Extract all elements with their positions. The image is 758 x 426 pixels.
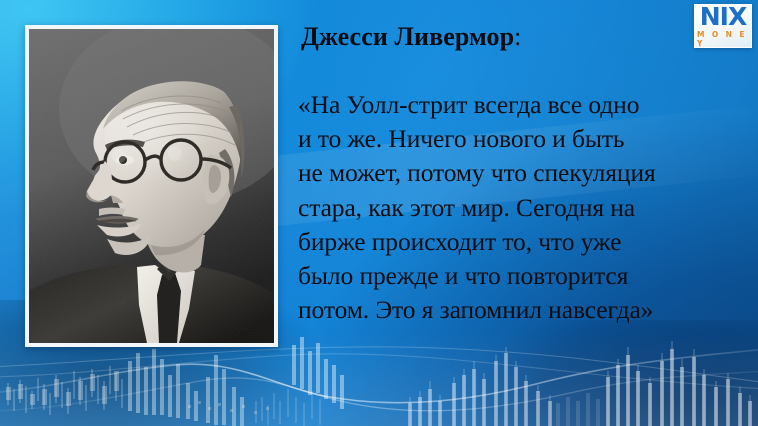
quote-line: бирже происходит то, что уже	[298, 225, 748, 259]
quote-block: «На Уолл-стрит всегда все одно и то же. …	[298, 88, 748, 327]
portrait-photo	[29, 29, 274, 343]
logo-primary-text: NIX	[700, 5, 747, 29]
quote-line: и то же. Ничего нового и быть	[298, 122, 748, 156]
quote-line: стара, как этот мир. Сегодня на	[298, 191, 748, 225]
speaker-colon: :	[514, 22, 521, 51]
speaker-name: Джесси Ливермор	[301, 22, 514, 51]
quote-line: потом. Это я запомнил навсегда»	[298, 293, 748, 327]
quote-line: не может, потому что спекуляция	[298, 156, 748, 190]
quote-line: было прежде и что повторится	[298, 259, 748, 293]
speaker-name-line: Джесси Ливермор:	[301, 22, 521, 52]
nix-money-logo[interactable]: NIX M O N E Y	[694, 4, 752, 48]
presentation-slide: Джесси Ливермор: «На Уолл-стрит всегда в…	[0, 0, 758, 426]
quote-line: «На Уолл-стрит всегда все одно	[298, 88, 748, 122]
logo-secondary-text: M O N E Y	[695, 30, 751, 48]
quote-text-column: Джесси Ливермор: «На Уолл-стрит всегда в…	[296, 0, 748, 360]
portrait-photo-frame	[25, 25, 278, 347]
